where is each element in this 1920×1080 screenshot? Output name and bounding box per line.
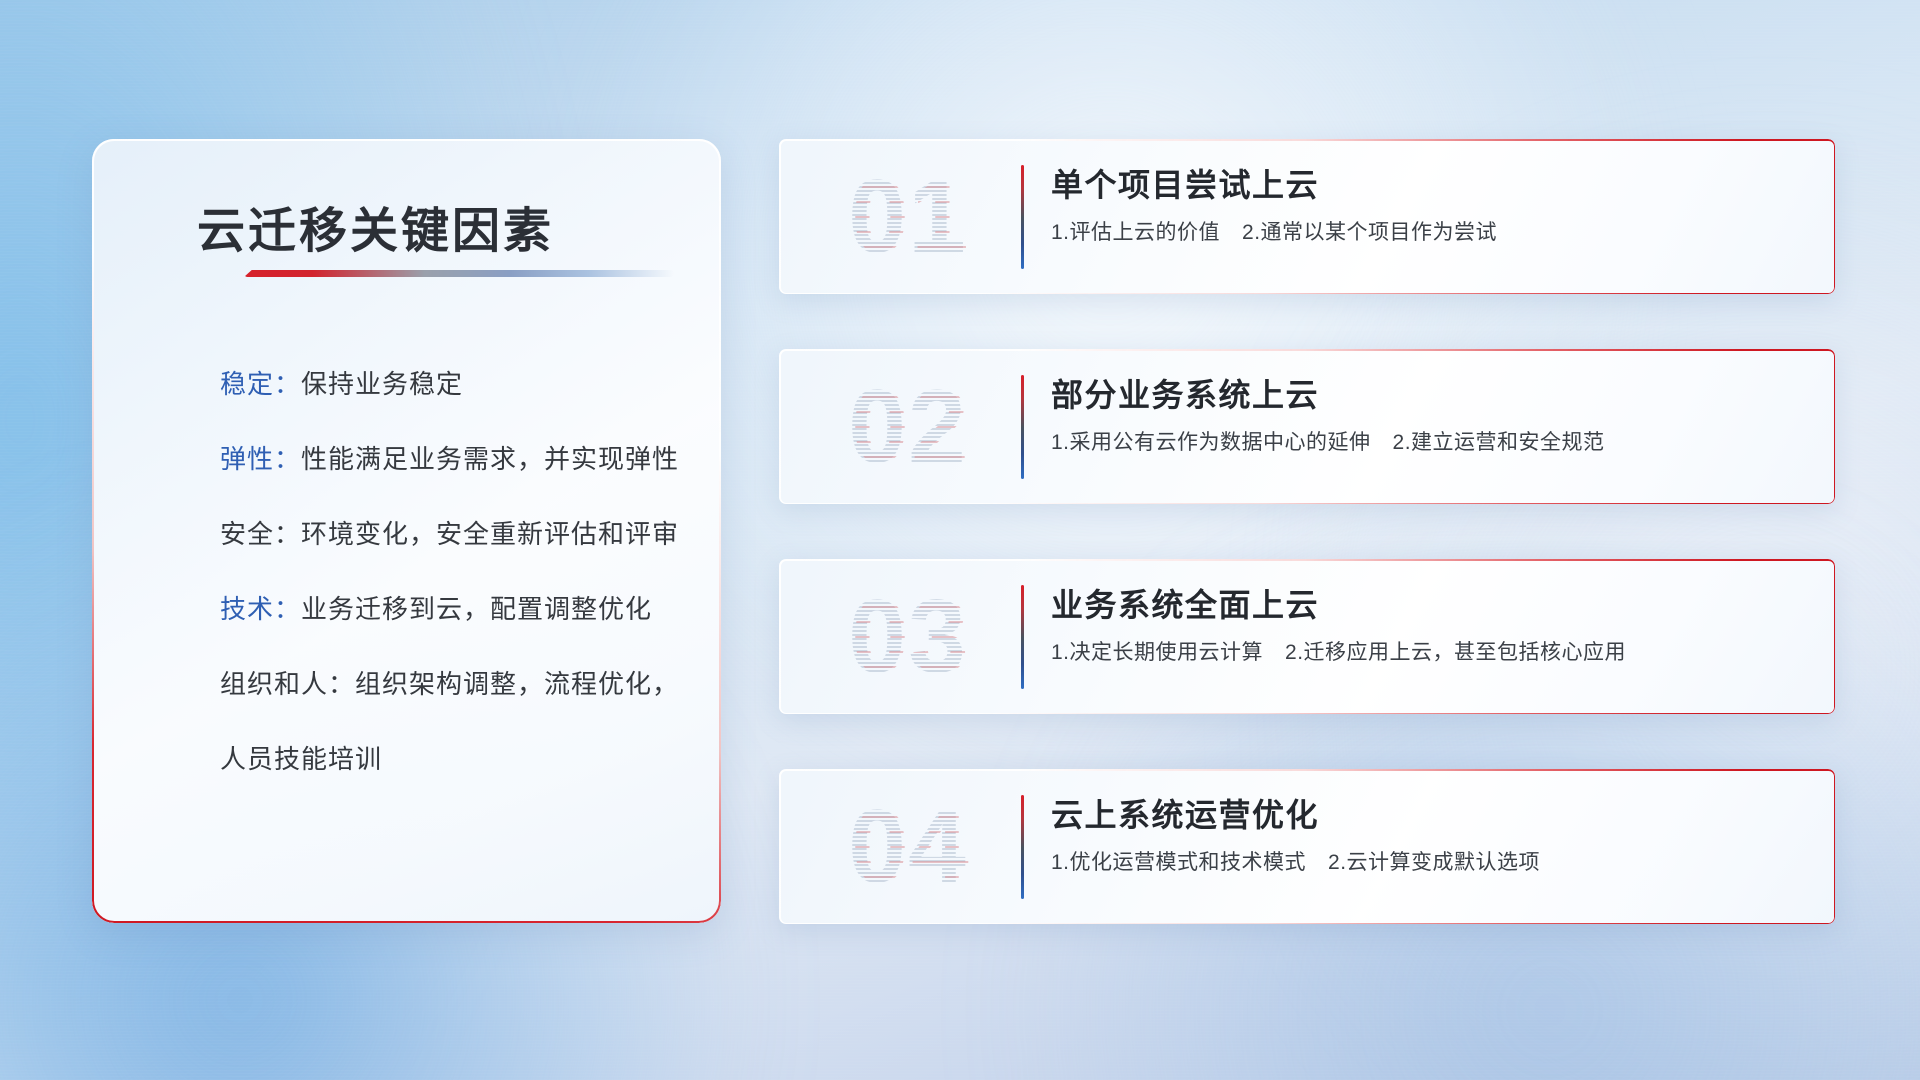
list-item-label: 稳定： xyxy=(220,369,301,399)
card-point-1: 1.采用公有云作为数据中心的延伸 xyxy=(1051,431,1371,454)
card-point-1: 1.决定长期使用云计算 xyxy=(1051,641,1263,664)
card-title: 部分业务系统上云 xyxy=(1051,375,1809,415)
card-title: 业务系统全面上云 xyxy=(1051,585,1809,625)
card-title: 云上系统运营优化 xyxy=(1051,795,1809,835)
card-divider-bar xyxy=(1021,585,1024,689)
card-title: 单个项目尝试上云 xyxy=(1051,165,1809,205)
card-body: 部分业务系统上云 1.采用公有云作为数据中心的延伸2.建立运营和安全规范 xyxy=(1051,375,1809,456)
stage-card-02[interactable]: 02 02 部分业务系统上云 1.采用公有云作为数据中心的延伸2.建立运营和安全… xyxy=(779,349,1835,504)
card-divider-bar xyxy=(1021,375,1024,479)
stage-card-03[interactable]: 03 03 业务系统全面上云 1.决定长期使用云计算2.迁移应用上云，甚至包括核… xyxy=(779,559,1835,714)
key-factors-panel: 云迁移关键因素 稳定：保持业务稳定 弹性：性能满足业务需求，并实现弹性 安全：环… xyxy=(92,139,721,923)
stage-number-glitch-overlay: 02 xyxy=(818,368,1004,486)
list-item-text: 业务迁移到云，配置调整优化 xyxy=(301,594,652,624)
list-item-text: 组织架构调整，流程优化， xyxy=(355,669,679,699)
title-underline-rule xyxy=(244,270,674,277)
list-item-label: 安全： xyxy=(220,519,301,549)
card-description: 1.优化运营模式和技术模式2.云计算变成默认选项 xyxy=(1051,849,1809,876)
page-title: 云迁移关键因素 xyxy=(197,191,667,261)
card-divider-bar xyxy=(1021,795,1024,899)
card-body: 云上系统运营优化 1.优化运营模式和技术模式2.云计算变成默认选项 xyxy=(1051,795,1809,876)
list-item-text: 环境变化，安全重新评估和评审 xyxy=(301,519,679,549)
list-item: 组织和人：组织架构调整，流程优化， xyxy=(220,671,681,697)
list-item-label: 弹性： xyxy=(220,444,301,474)
list-item-text: 人员技能培训 xyxy=(220,744,382,774)
list-item-text: 保持业务稳定 xyxy=(301,369,463,399)
card-point-2: 2.通常以某个项目作为尝试 xyxy=(1242,221,1497,244)
card-point-2: 2.迁移应用上云，甚至包括核心应用 xyxy=(1285,641,1626,664)
list-item-label: 组织和人： xyxy=(220,669,355,699)
list-item-label: 技术： xyxy=(220,594,301,624)
card-point-1: 1.评估上云的价值 xyxy=(1051,221,1220,244)
list-item: 弹性：性能满足业务需求，并实现弹性 xyxy=(220,446,681,472)
stage-number-glitch-overlay: 01 xyxy=(818,158,1004,276)
stage-card-04[interactable]: 04 04 云上系统运营优化 1.优化运营模式和技术模式2.云计算变成默认选项 xyxy=(779,769,1835,924)
card-body: 业务系统全面上云 1.决定长期使用云计算2.迁移应用上云，甚至包括核心应用 xyxy=(1051,585,1809,666)
stage-number-glitch-overlay: 04 xyxy=(818,788,1004,906)
card-point-1: 1.优化运营模式和技术模式 xyxy=(1051,851,1306,874)
slide-stage: 云迁移关键因素 稳定：保持业务稳定 弹性：性能满足业务需求，并实现弹性 安全：环… xyxy=(0,0,1920,1080)
stage-card-01[interactable]: 01 01 单个项目尝试上云 1.评估上云的价值2.通常以某个项目作为尝试 xyxy=(779,139,1835,294)
list-item: 技术：业务迁移到云，配置调整优化 xyxy=(220,596,681,622)
stage-number-glitch-overlay: 03 xyxy=(818,578,1004,696)
card-description: 1.评估上云的价值2.通常以某个项目作为尝试 xyxy=(1051,219,1809,246)
card-body: 单个项目尝试上云 1.评估上云的价值2.通常以某个项目作为尝试 xyxy=(1051,165,1809,246)
card-point-2: 2.云计算变成默认选项 xyxy=(1328,851,1540,874)
card-description: 1.决定长期使用云计算2.迁移应用上云，甚至包括核心应用 xyxy=(1051,639,1809,666)
card-point-2: 2.建立运营和安全规范 xyxy=(1393,431,1605,454)
card-description: 1.采用公有云作为数据中心的延伸2.建立运营和安全规范 xyxy=(1051,429,1809,456)
list-item: 稳定：保持业务稳定 xyxy=(220,371,681,397)
list-item: 人员技能培训 xyxy=(220,746,681,772)
migration-stage-cards: 01 01 单个项目尝试上云 1.评估上云的价值2.通常以某个项目作为尝试 02… xyxy=(779,139,1835,924)
key-factors-list: 稳定：保持业务稳定 弹性：性能满足业务需求，并实现弹性 安全：环境变化，安全重新… xyxy=(220,371,681,772)
list-item-text: 性能满足业务需求，并实现弹性 xyxy=(301,444,679,474)
list-item: 安全：环境变化，安全重新评估和评审 xyxy=(220,521,681,547)
card-divider-bar xyxy=(1021,165,1024,269)
